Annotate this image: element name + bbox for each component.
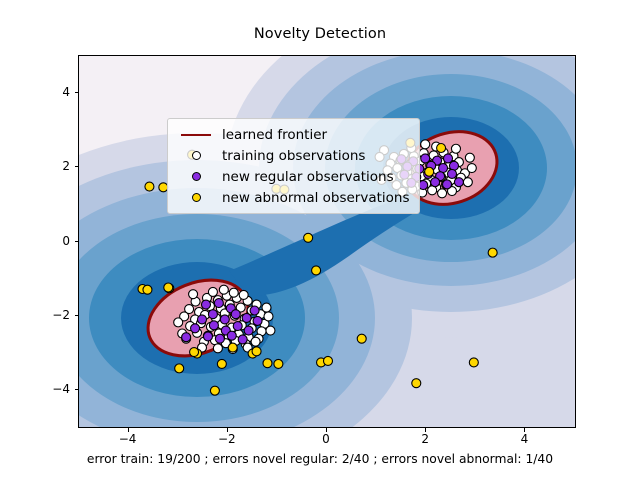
data-point — [443, 180, 452, 189]
data-point — [231, 310, 240, 319]
data-point — [262, 303, 271, 312]
x-tick-mark — [326, 428, 327, 432]
data-point — [444, 154, 453, 163]
data-point — [447, 169, 456, 178]
data-point — [201, 300, 210, 309]
data-point — [274, 359, 283, 368]
legend-item-frontier: learned frontier — [176, 124, 410, 145]
data-point — [242, 313, 251, 322]
data-point — [431, 178, 440, 187]
data-point — [437, 144, 446, 153]
data-point — [244, 326, 253, 335]
data-point — [239, 290, 248, 299]
data-point — [210, 386, 219, 395]
data-point — [412, 379, 421, 388]
x-tick-label: 4 — [521, 432, 529, 446]
data-point — [488, 248, 497, 257]
page-title: Novelty Detection — [0, 26, 640, 42]
data-point — [190, 348, 199, 357]
y-tick-mark — [75, 166, 79, 167]
data-point — [175, 364, 184, 373]
data-point — [312, 266, 321, 275]
data-point — [209, 321, 218, 330]
figure-canvas: Novelty Detection — [0, 0, 640, 480]
data-point — [449, 161, 458, 170]
legend-item-regular: new regular observations — [176, 166, 410, 187]
contour-background — [79, 56, 575, 427]
plot-axes: learned frontier training observations n… — [78, 55, 576, 428]
legend-label: new regular observations — [216, 169, 394, 185]
data-point — [253, 316, 262, 325]
data-point — [238, 335, 247, 344]
x-tick-mark — [227, 428, 228, 432]
data-point — [229, 288, 238, 297]
data-point — [191, 324, 200, 333]
legend-label: new abnormal observations — [216, 190, 410, 206]
data-point — [469, 358, 478, 367]
y-tick-mark — [75, 92, 79, 93]
legend-label: learned frontier — [216, 127, 327, 143]
data-point — [215, 334, 224, 343]
x-tick-label: −4 — [119, 432, 137, 446]
x-tick-label: 0 — [322, 432, 330, 446]
data-point — [250, 306, 259, 315]
x-tick-label: −2 — [218, 432, 236, 446]
x-tick-label: 2 — [421, 432, 429, 446]
data-point — [174, 318, 183, 327]
data-point — [266, 326, 275, 335]
data-point — [252, 347, 261, 356]
scatter-plot — [79, 56, 575, 427]
y-tick-mark — [75, 241, 79, 242]
data-point — [454, 178, 463, 187]
data-point — [189, 290, 198, 299]
data-point — [145, 182, 154, 191]
data-point — [228, 343, 237, 352]
y-tick-label: −4 — [40, 382, 70, 396]
legend-box[interactable]: learned frontier training observations n… — [167, 118, 420, 214]
error-summary-caption: error train: 19/200 ; errors novel regul… — [0, 452, 640, 466]
data-point — [233, 322, 242, 331]
data-point — [213, 344, 222, 353]
data-point — [219, 285, 228, 294]
legend-label: training observations — [216, 148, 365, 164]
data-point — [421, 140, 430, 149]
data-point — [419, 181, 428, 190]
data-point — [357, 334, 366, 343]
data-point — [220, 315, 229, 324]
data-point — [203, 332, 212, 341]
data-point — [323, 356, 332, 365]
y-tick-label: 0 — [40, 234, 70, 248]
legend-item-abnormal: new abnormal observations — [176, 187, 410, 208]
x-tick-mark — [128, 428, 129, 432]
y-tick-mark — [75, 315, 79, 316]
data-point — [214, 299, 223, 308]
data-point — [264, 312, 273, 321]
regular-marker-icon — [176, 172, 216, 181]
abnormal-marker-icon — [176, 193, 216, 202]
data-point — [438, 189, 447, 198]
data-point — [208, 287, 217, 296]
data-point — [251, 337, 260, 346]
x-tick-mark — [524, 428, 525, 432]
data-point — [421, 154, 430, 163]
data-point — [463, 178, 472, 187]
y-tick-label: 4 — [40, 85, 70, 99]
data-point — [217, 359, 226, 368]
frontier-line-icon — [176, 134, 216, 136]
data-point — [143, 285, 152, 294]
data-point — [182, 333, 191, 342]
data-point — [467, 164, 476, 173]
x-tick-mark — [425, 428, 426, 432]
data-point — [164, 283, 173, 292]
data-point — [304, 233, 313, 242]
y-tick-mark — [75, 389, 79, 390]
data-point — [465, 153, 474, 162]
data-point — [208, 310, 217, 319]
y-tick-label: 2 — [40, 159, 70, 173]
data-point — [451, 144, 460, 153]
data-point — [227, 331, 236, 340]
data-point — [263, 359, 272, 368]
training-marker-icon — [176, 151, 216, 160]
data-point — [198, 315, 207, 324]
y-tick-label: −2 — [40, 308, 70, 322]
data-point — [425, 167, 434, 176]
legend-item-training: training observations — [176, 145, 410, 166]
